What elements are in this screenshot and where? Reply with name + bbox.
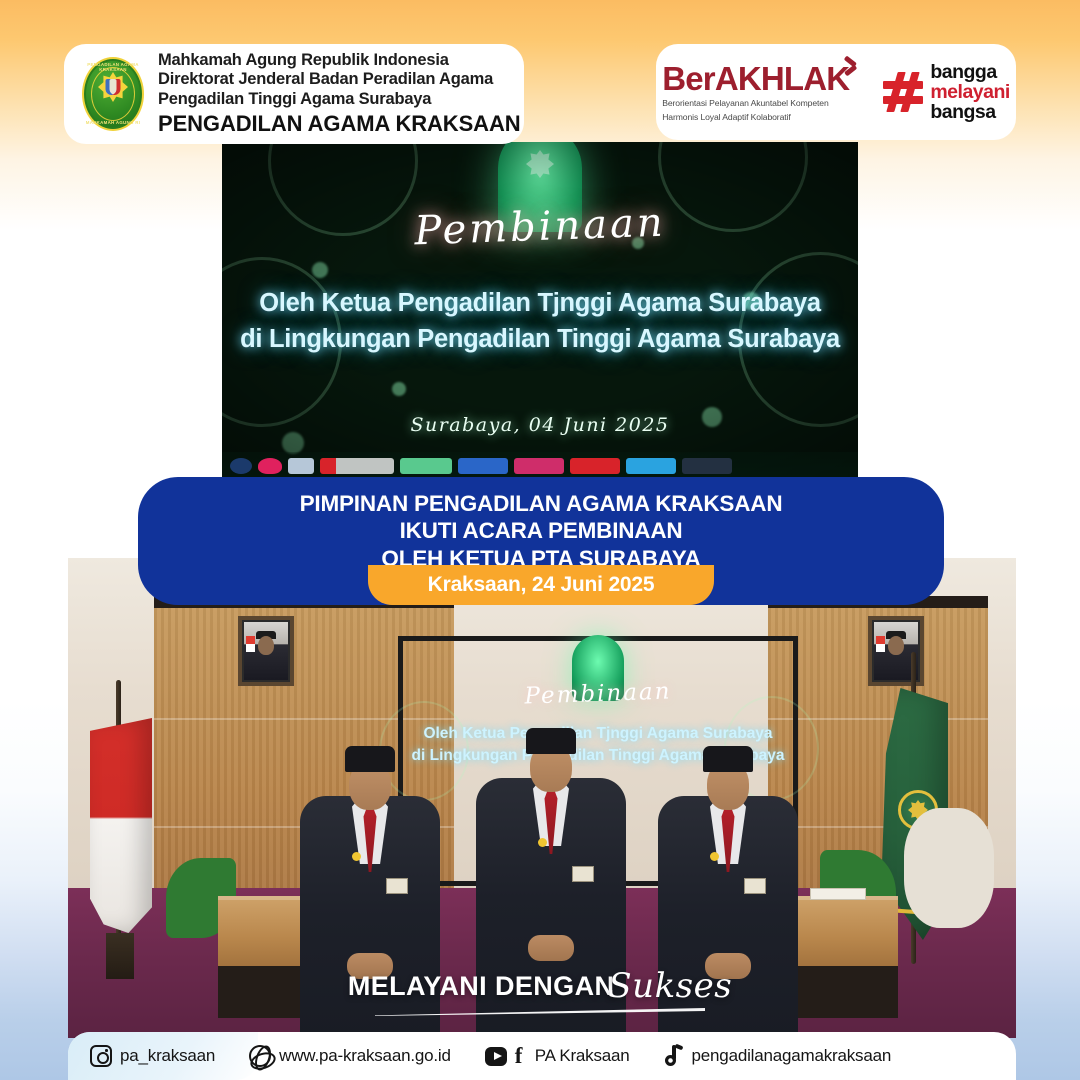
- bangga-line-1: bangga: [930, 62, 1009, 82]
- footer-item-tiktok[interactable]: pengadilanagamakraksaan: [664, 1045, 892, 1067]
- berakhlak-wordmark: BerAKHLAK: [662, 62, 849, 95]
- court-emblem-icon: PENGADILAN AGAMA KRAKSAAN MAHKAMAH AGUNG…: [82, 57, 144, 131]
- strip-logo: [258, 458, 282, 474]
- footer-item-website[interactable]: www.pa-kraksaan.go.id: [249, 1045, 451, 1067]
- institution-names: Mahkamah Agung Republik Indonesia Direkt…: [158, 51, 521, 137]
- strip-logo: [230, 458, 252, 474]
- slide-logo-strip: [222, 452, 858, 480]
- instagram-handle: pa_kraksaan: [120, 1046, 215, 1066]
- berakhlak-check-icon: [844, 57, 861, 77]
- footer-item-instagram[interactable]: pa_kraksaan: [90, 1045, 215, 1067]
- slide-date: Surabaya, 04 Juni 2025: [222, 414, 858, 436]
- strip-berakhlak-logo: [320, 458, 394, 474]
- institution-header-card: PENGADILAN AGAMA KRAKSAAN MAHKAMAH AGUNG…: [64, 44, 524, 144]
- nameplate: [810, 888, 866, 900]
- strip-logo: [682, 458, 732, 474]
- date-badge: Kraksaan, 24 Juni 2025: [368, 565, 714, 605]
- room-slide-script-title: Pembinaan: [403, 674, 794, 714]
- strip-logo: [514, 458, 564, 474]
- berakhlak-values-line-2: Harmonis Loyal Adaptif Kolaboratif: [662, 112, 849, 123]
- footer-item-social[interactable]: f PA Kraksaan: [485, 1045, 630, 1067]
- website-url: www.pa-kraksaan.go.id: [279, 1046, 451, 1066]
- official-portrait-left: [238, 616, 294, 686]
- strip-logo: [288, 458, 314, 474]
- strip-logo: [458, 458, 508, 474]
- presentation-screen-photo: Pembinaan Oleh Ketua Pengadilan Tjnggi A…: [222, 142, 858, 480]
- bangga-line-2: melayani: [930, 82, 1009, 102]
- institution-line-2: Direktorat Jenderal Badan Peradilan Agam…: [158, 70, 521, 89]
- slide-line-2: di Lingkungan Pengadilan Tinggi Agama Su…: [222, 325, 858, 354]
- banner-line-2: IKUTI ACARA PEMBINAAN: [400, 517, 683, 544]
- institution-line-3: Pengadilan Tinggi Agama Surabaya: [158, 90, 521, 109]
- banner-line-1: PIMPINAN PENGADILAN AGAMA KRAKSAAN: [300, 490, 783, 517]
- bangga-melayani-bangsa-logo: bangga melayani bangsa: [883, 62, 1009, 123]
- flower-arrangement: [904, 808, 994, 928]
- official-person-left: [300, 748, 440, 1038]
- facebook-icon: f: [515, 1045, 527, 1067]
- emblem-top-text: PENGADILAN AGAMA KRAKSAAN: [82, 62, 144, 72]
- branding-logos-card: BerAKHLAK Berorientasi Pelayanan Akuntab…: [656, 44, 1016, 140]
- bangga-line-3: bangsa: [930, 102, 1009, 122]
- instagram-icon: [90, 1045, 112, 1067]
- slide-line-1: Oleh Ketua Pengadilan Tjnggi Agama Surab…: [222, 289, 858, 318]
- strip-logo: [626, 458, 676, 474]
- poster-root: Pembinaan Oleh Ketua Pengadilan Tjnggi A…: [0, 0, 1080, 1080]
- website-icon: [249, 1045, 271, 1067]
- youtube-icon: [485, 1047, 507, 1066]
- hashtag-icon: [883, 72, 923, 112]
- tiktok-handle: pengadilanagamakraksaan: [692, 1046, 892, 1066]
- court-name: PENGADILAN AGAMA KRAKSAAN: [158, 111, 521, 137]
- footer-bar: pa_kraksaan www.pa-kraksaan.go.id f PA K…: [68, 1032, 1016, 1080]
- social-handle: PA Kraksaan: [535, 1046, 630, 1066]
- official-person-center: [476, 730, 626, 1038]
- indonesian-flag: [90, 718, 152, 948]
- emblem-bottom-text: MAHKAMAH AGUNG RI: [82, 120, 144, 125]
- berakhlak-values-line-1: Berorientasi Pelayanan Akuntabel Kompete…: [662, 98, 849, 109]
- strip-logo: [570, 458, 620, 474]
- date-badge-label: Kraksaan, 24 Juni 2025: [428, 573, 655, 597]
- strip-logo: [400, 458, 452, 474]
- institution-line-1: Mahkamah Agung Republik Indonesia: [158, 51, 521, 70]
- berakhlak-logo: BerAKHLAK Berorientasi Pelayanan Akuntab…: [662, 62, 859, 122]
- group-photo: Pembinaan Oleh Ketua Pengadilan Tjnggi A…: [68, 558, 1016, 1038]
- official-person-right: [658, 748, 798, 1038]
- tiktok-icon: [664, 1045, 684, 1067]
